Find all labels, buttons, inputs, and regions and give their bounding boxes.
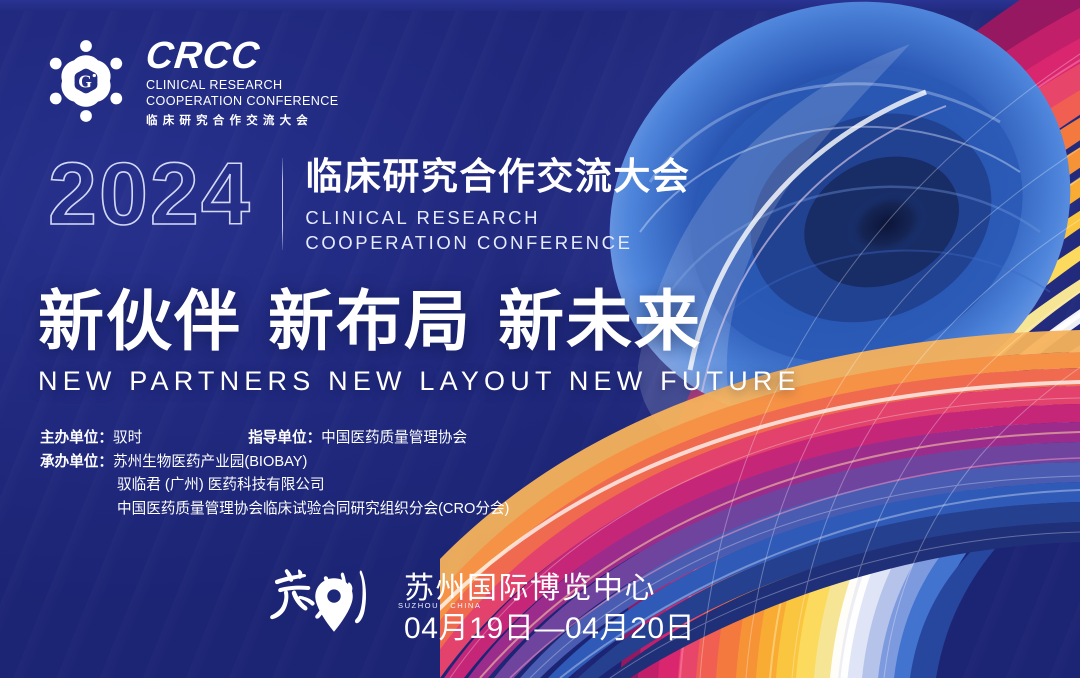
host-value: 驭时 <box>113 427 142 451</box>
suzhou-subtitle: SUZHOU · CHINA <box>274 576 481 634</box>
host-label: 主办单位： <box>40 427 113 451</box>
svg-text:G: G <box>78 72 92 92</box>
slogan-cn: 新伙伴新布局新未来 <box>38 288 801 354</box>
organizers-block: 主办单位： 驭时 指导单位： 中国医药质量管理协会 承办单位： 苏州生物医药产业… <box>40 427 509 521</box>
guidance-label: 指导单位： <box>248 427 321 451</box>
crcc-subtitle-line2: COOPERATION CONFERENCE <box>146 94 339 109</box>
organizer-row-2: 驭临君 (广州) 医药科技有限公司 <box>40 474 509 498</box>
year-title-row: 2024 临床研究合作交流大会 CLINICAL RESEARCH COOPER… <box>48 150 690 255</box>
conference-title-en-line2: COOPERATION CONFERENCE <box>305 231 690 255</box>
suzhou-calligraphy-mark: SUZHOU · CHINA <box>268 566 388 638</box>
organizer-row-guidance: 指导单位： 中国医药质量管理协会 <box>248 427 467 451</box>
conference-title-cn: 临床研究合作交流大会 <box>305 156 690 197</box>
conference-title-en-line1: CLINICAL RESEARCH <box>305 206 690 230</box>
guidance-value: 中国医药质量管理协会 <box>321 427 467 451</box>
crcc-wordmark: CRCC <box>144 38 340 74</box>
organizer-row-3: 中国医药质量管理协会临床试验合同研究组织分会(CRO分会) <box>40 498 509 522</box>
slogan-en: NEW PARTNERS NEW LAYOUT NEW FUTURE <box>38 366 801 397</box>
organizer-label: 承办单位： <box>40 451 113 475</box>
conference-poster: G CRCC CLINICAL RESEARCH COOPERATION CON… <box>0 0 1080 678</box>
people-circle-emblem-icon: G <box>40 35 132 127</box>
crcc-wordmark-block: CRCC CLINICAL RESEARCH COOPERATION CONFE… <box>146 34 339 128</box>
organizer-value-2: 中国医药质量管理协会临床试验合同研究组织分会(CRO分会) <box>117 498 509 522</box>
organizer-value-1: 驭临君 (广州) 医药科技有限公司 <box>117 474 325 498</box>
organizer-row-host: 主办单位： 驭时 指导单位： 中国医药质量管理协会 <box>40 427 509 451</box>
crcc-subtitle-chinese: 临床研究合作交流大会 <box>146 112 339 128</box>
venue-block: SUZHOU · CHINA 苏州国际博览中心 04月19日—04月20日 <box>268 566 695 648</box>
crcc-subtitle-line1: CLINICAL RESEARCH <box>146 78 339 93</box>
organizer-row-1: 承办单位： 苏州生物医药产业园(BIOBAY) <box>40 451 509 475</box>
slogan-block: 新伙伴新布局新未来 NEW PARTNERS NEW LAYOUT NEW FU… <box>38 288 801 397</box>
year-2024: 2024 <box>48 150 282 238</box>
crcc-logo-lockup: G CRCC CLINICAL RESEARCH COOPERATION CON… <box>40 34 339 128</box>
slogan-cn-part2: 新布局 <box>268 284 472 358</box>
conference-title-block: 临床研究合作交流大会 CLINICAL RESEARCH COOPERATION… <box>283 150 690 255</box>
suzhou-subtitle-text: SUZHOU · CHINA <box>398 601 481 610</box>
location-pin-icon <box>274 576 394 634</box>
slogan-cn-part3: 新未来 <box>498 284 702 358</box>
organizer-value-0: 苏州生物医药产业园(BIOBAY) <box>113 451 307 475</box>
slogan-cn-part1: 新伙伴 <box>38 284 242 358</box>
